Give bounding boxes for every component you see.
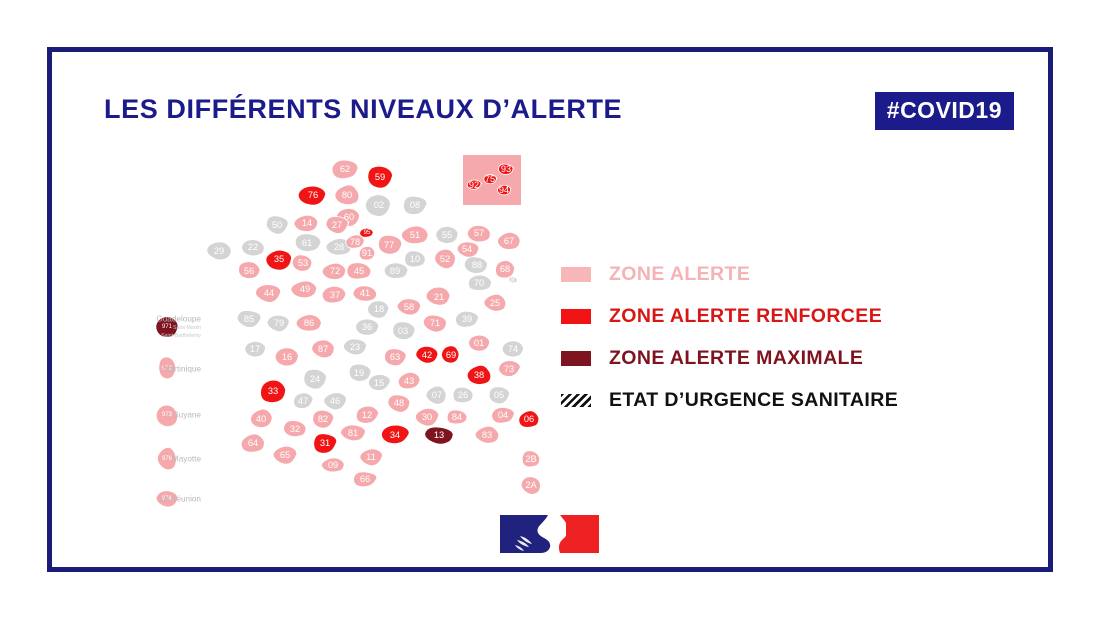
department-83 <box>475 426 499 443</box>
paris-inset-department-93 <box>498 164 513 174</box>
department-79 <box>267 315 290 331</box>
legend-label-etat-urgence-sanitaire: ETAT D’URGENCE SANITAIRE <box>609 389 898 412</box>
legend-item-zone-alerte: ZONE ALERTE <box>561 253 991 295</box>
department-34 <box>381 425 410 444</box>
department-81 <box>341 425 366 441</box>
department-31 <box>314 434 338 454</box>
department-08 <box>403 196 427 214</box>
department-52 <box>435 249 456 268</box>
department-25 <box>484 294 506 311</box>
legend-item-zone-alerte-maximale: ZONE ALERTE MAXIMALE <box>561 337 991 379</box>
department-10 <box>405 251 426 267</box>
department-77 <box>378 235 402 254</box>
legend-label-zone-alerte: ZONE ALERTE <box>609 263 750 286</box>
department-04 <box>492 407 515 423</box>
department-11 <box>360 449 383 466</box>
overseas-sublabel-971-0: Saint-Martin <box>173 325 201 331</box>
legend-item-etat-urgence-sanitaire: ETAT D’URGENCE SANITAIRE <box>561 379 991 421</box>
department-66 <box>354 472 378 487</box>
department-41 <box>353 286 377 301</box>
department-86 <box>296 315 321 331</box>
legend-swatch-etat-urgence-sanitaire <box>561 394 591 407</box>
department-2B <box>522 451 540 467</box>
department-45 <box>347 263 371 279</box>
department-21 <box>426 287 450 305</box>
map-svg: 6259807660020850142761289578917751555754… <box>127 147 547 537</box>
department-49 <box>291 281 317 298</box>
department-84 <box>447 410 467 424</box>
department-59 <box>368 166 393 188</box>
department-50 <box>266 216 289 234</box>
department-29 <box>207 242 232 260</box>
department-07 <box>426 386 446 404</box>
department-76 <box>298 186 326 205</box>
department-87 <box>312 340 335 358</box>
department-40 <box>250 409 272 428</box>
department-47 <box>294 393 314 409</box>
department-82 <box>313 410 335 428</box>
department-12 <box>356 406 379 423</box>
overseas-label-976: Mayotte <box>172 455 202 464</box>
page-title: LES DIFFÉRENTS NIVEAUX D’ALERTE <box>104 94 622 125</box>
department-2A <box>521 477 541 495</box>
department-23 <box>343 339 367 355</box>
department-16 <box>275 348 299 366</box>
department-61 <box>295 234 321 252</box>
department-14 <box>294 215 318 231</box>
department-57 <box>467 225 490 242</box>
overseas-label-971: Guadeloupe <box>156 315 201 324</box>
department-35 <box>266 250 292 270</box>
overseas-sublabel-971-1: Saint-Barthélemy <box>161 333 201 339</box>
department-56 <box>239 262 261 279</box>
department-43 <box>398 372 420 388</box>
department-68 <box>496 260 515 278</box>
content-frame: LES DIFFÉRENTS NIVEAUX D’ALERTE #COVID19… <box>47 47 1053 572</box>
department-30 <box>415 408 439 426</box>
department-69 <box>441 346 459 363</box>
department-91 <box>359 246 375 260</box>
department-90 <box>509 277 518 283</box>
department-88 <box>464 257 487 274</box>
legend-item-zone-alerte-renforcee: ZONE ALERTE RENFORCEE <box>561 295 991 337</box>
department-01 <box>469 335 490 351</box>
department-72 <box>322 263 346 279</box>
department-27 <box>326 216 349 233</box>
department-13 <box>425 427 454 444</box>
department-63 <box>384 349 406 366</box>
department-15 <box>368 374 391 390</box>
department-95 <box>360 228 374 237</box>
department-19 <box>349 364 371 381</box>
department-73 <box>499 361 522 377</box>
department-85 <box>237 311 262 328</box>
legend-swatch-zone-alerte-maximale <box>561 351 591 366</box>
department-71 <box>423 315 446 332</box>
department-09 <box>321 458 344 472</box>
department-74 <box>502 341 524 357</box>
department-67 <box>498 232 521 249</box>
department-65 <box>273 446 298 464</box>
legend-label-zone-alerte-renforcee: ZONE ALERTE RENFORCEE <box>609 305 882 328</box>
legend: ZONE ALERTE ZONE ALERTE RENFORCEE ZONE A… <box>561 253 991 421</box>
department-03 <box>393 322 416 340</box>
department-70 <box>468 275 491 290</box>
department-64 <box>241 434 264 452</box>
department-36 <box>356 319 379 335</box>
department-78 <box>346 235 365 248</box>
legend-label-zone-alerte-maximale: ZONE ALERTE MAXIMALE <box>609 347 863 370</box>
department-80 <box>335 185 360 205</box>
department-62 <box>332 160 359 179</box>
department-46 <box>324 393 348 410</box>
department-39 <box>455 311 479 327</box>
department-37 <box>322 286 346 303</box>
department-44 <box>255 285 281 303</box>
department-89 <box>384 263 408 278</box>
department-02 <box>365 195 391 217</box>
covid19-badge: #COVID19 <box>875 92 1014 130</box>
department-24 <box>304 369 327 389</box>
department-22 <box>242 240 265 256</box>
department-33 <box>261 380 286 403</box>
department-17 <box>245 341 266 356</box>
department-32 <box>284 420 307 436</box>
paris-inset-department-75 <box>484 175 497 184</box>
department-26 <box>453 387 473 403</box>
department-06 <box>519 411 539 428</box>
department-18 <box>368 301 390 318</box>
department-58 <box>397 299 421 315</box>
department-53 <box>292 255 312 271</box>
legend-swatch-zone-alerte <box>561 267 591 282</box>
legend-swatch-zone-alerte-renforcee <box>561 309 591 324</box>
department-05 <box>489 387 510 404</box>
marianne-french-republic-logo <box>498 511 602 557</box>
department-55 <box>436 226 459 243</box>
overseas-label-974: La Réunion <box>159 495 201 504</box>
department-42 <box>416 346 439 363</box>
department-38 <box>467 365 491 384</box>
department-48 <box>388 395 410 412</box>
overseas-label-972: Martinique <box>163 365 202 374</box>
overseas-label-973: Guyane <box>172 411 201 420</box>
france-alert-map: 6259807660020850142761289578917751555754… <box>127 147 547 537</box>
department-54 <box>457 242 479 257</box>
paris-inset-department-94 <box>497 185 510 195</box>
department-51 <box>401 226 428 244</box>
